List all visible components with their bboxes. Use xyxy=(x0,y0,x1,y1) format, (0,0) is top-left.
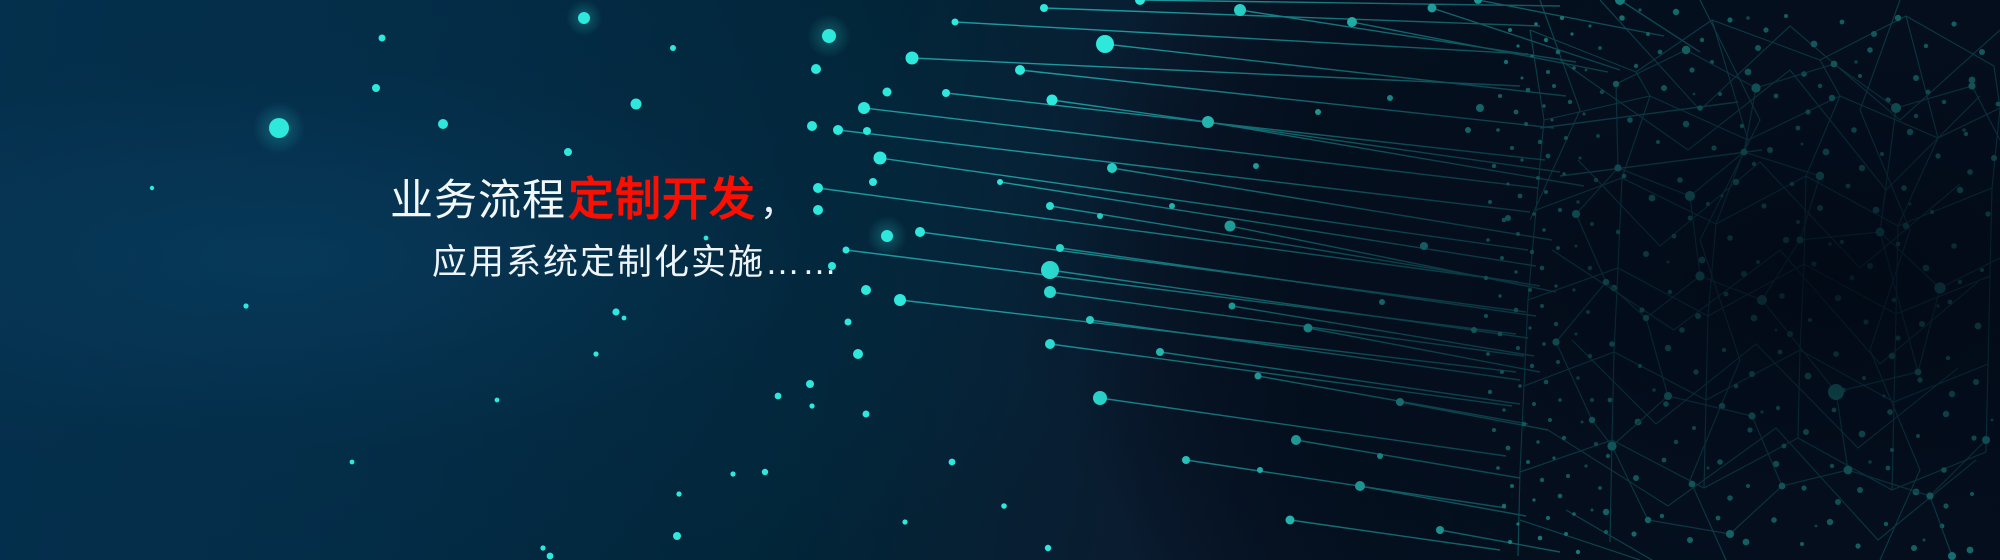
scattered-particles xyxy=(0,0,2000,560)
hero-banner: 业务流程定制开发， 应用系统定制化实施…… xyxy=(0,0,2000,560)
